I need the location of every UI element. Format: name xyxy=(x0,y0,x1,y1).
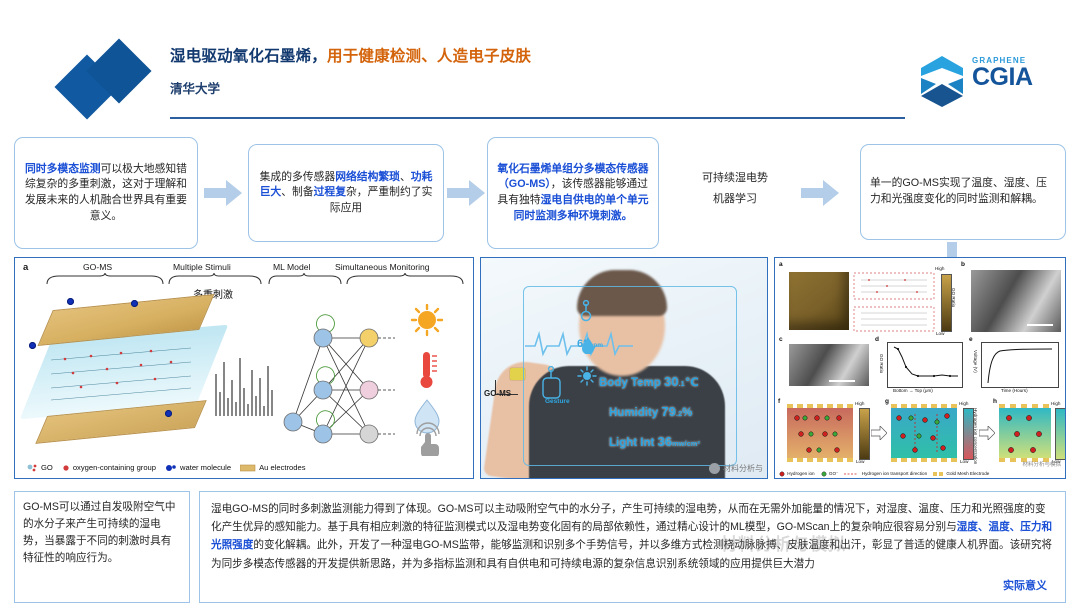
scale-bar-b xyxy=(1027,324,1053,326)
process-label-line1: 可持续湿电势 xyxy=(672,168,798,189)
process-label: 可持续湿电势 机器学习 xyxy=(672,168,798,210)
colorbar-f-high: High xyxy=(855,401,864,406)
legend-item-au: Au electrodes xyxy=(240,463,305,472)
title-block: 湿电驱动氧化石墨烯，用于健康检测、人造电子皮肤 清华大学 xyxy=(170,47,870,97)
go-ratio-low-label: Low xyxy=(936,331,944,336)
tsinghua-diamond-logo-icon xyxy=(62,52,166,114)
colorbar-h-high: High xyxy=(1051,401,1060,406)
figure-panel-schematic: a GO-MS Multiple Stimuli ML Model Simult… xyxy=(14,257,474,479)
figure-panel-characterization: a High Low GO Ratio b c d xyxy=(774,257,1066,479)
cgia-name-text: CGIA xyxy=(972,66,1033,90)
plot-d-go-ratio-depth xyxy=(887,342,963,388)
watermark-icon xyxy=(709,463,720,474)
panel-letter-a: a xyxy=(23,262,28,273)
legend-transport-direction: Hydrogen ion transport direction xyxy=(844,471,927,477)
significance-summary-text: 湿电GO-MS的同时多刺激监测能力得到了体现。GO-MS可以主动吸附空气中的水分… xyxy=(211,500,1054,573)
colorbar-g-high: High xyxy=(959,401,968,406)
page-title-plain: 湿电驱动氧化石墨烯， xyxy=(170,48,327,65)
legend-item-water: water molecule xyxy=(165,463,231,472)
arrow-right-icon-3 xyxy=(801,180,839,206)
process-label-line2: 机器学习 xyxy=(672,189,798,210)
panel-a-legend: GO oxygen-containing group water molecul… xyxy=(21,460,473,475)
mechanism-summary-box: GO-MS可以通过自发吸附空气中的水分子来产生可持续的湿电势，当暴露于不同的刺激… xyxy=(14,491,190,603)
water-molecule-icon-3 xyxy=(29,342,36,349)
sun-icon xyxy=(412,305,442,335)
go-lattice-icon xyxy=(51,340,201,410)
page-title: 湿电驱动氧化石墨烯，用于健康检测、人造电子皮肤 xyxy=(170,47,870,68)
hud-row-humidity: Humidity 79.2% xyxy=(609,404,692,419)
plot-e-xlabel: Time (Hours) xyxy=(1001,388,1028,393)
legend-go-minus: GO⁻ xyxy=(821,471,839,477)
legend-item-go: GO xyxy=(27,463,53,473)
flow-box-problem: 集成的多传感器网络结构繁琐、功耗巨大、制备过程复杂，严重制约了实际应用 xyxy=(248,144,444,242)
sub-letter-a: a xyxy=(779,261,783,268)
sub-letter-h: h xyxy=(993,398,997,405)
sun-icon-hud xyxy=(577,366,597,386)
flow-box-solution: 氧化石墨烯单组分多模态传感器（GO-MS），该传感器能够通过具有独特湿电自供电的… xyxy=(487,137,659,249)
go-ratio-high-label: High xyxy=(935,266,944,271)
cgia-star-hexagon-icon xyxy=(915,54,969,108)
panel-header-monitoring: Simultaneous Monitoring xyxy=(335,262,430,272)
cgia-logo: GRAPHENE CGIA xyxy=(915,52,1055,114)
water-molecule-icon-4 xyxy=(165,410,172,417)
affiliation: 清华大学 xyxy=(170,78,870,97)
colorbar-g-low: Low xyxy=(960,459,968,464)
lattice-bottom-icon xyxy=(853,306,935,332)
hud-row-light-int: Light Int 36mw/cm² xyxy=(609,434,700,449)
brace-icon-4 xyxy=(345,273,465,285)
legend-item-oxygen: oxygen-containing group xyxy=(62,463,156,472)
touch-gesture-icon-hud xyxy=(537,366,567,400)
sub-letter-f: f xyxy=(778,398,780,405)
panel-c-legend: Hydrogen ion GO⁻ Hydrogen ion transport … xyxy=(779,471,1063,477)
flow-box-result: 单一的GO-MS实现了温度、湿度、压力和光强度变化的同时监测和解耦。 xyxy=(860,144,1066,240)
plot-e-voltage-time xyxy=(981,342,1059,388)
plot-d-ylabel: GO Ratio xyxy=(879,354,884,373)
sub-letter-d: d xyxy=(875,336,879,343)
brace-icon-3 xyxy=(267,273,343,285)
legend-gold-mesh: Gold Mesh Electrode xyxy=(933,471,989,477)
brace-icon-1 xyxy=(45,273,165,285)
ion-diagram-g xyxy=(891,404,957,462)
arrow-right-icon xyxy=(204,180,242,206)
output-icons-group xyxy=(407,304,461,456)
legend-hydrogen-ion: Hydrogen ion xyxy=(779,471,815,477)
sub-letter-e: e xyxy=(969,336,973,343)
colorbar-g-label: Hydrogen ion concentration xyxy=(973,408,978,464)
thermometer-icon xyxy=(421,352,438,388)
water-molecule-icon-2 xyxy=(131,300,138,307)
brace-icon-2 xyxy=(167,273,263,285)
arrow-right-icon-2 xyxy=(447,180,485,206)
hud-row-body-temp: Body Temp 30.1℃ xyxy=(599,374,699,389)
watermark-panel-b: 材料分析与 xyxy=(709,463,763,474)
stimuli-signal-icon xyxy=(213,354,275,416)
figure-panel-wearable-demo: GO-MS 62bpm Gesture xyxy=(480,257,768,479)
watermark-panel-c: 材料分析与模拟 xyxy=(1022,460,1061,468)
figure-panels: a GO-MS Multiple Stimuli ML Model Simult… xyxy=(0,257,1080,482)
sub-letter-c: c xyxy=(779,336,783,343)
panel-header-stimuli: Multiple Stimuli xyxy=(173,262,231,272)
significance-signature: 实际意义 xyxy=(1003,577,1047,596)
flow-box-result-text: 单一的GO-MS实现了温度、湿度、压力和光强度变化的同时监测和解耦。 xyxy=(870,176,1056,207)
lattice-top-icon xyxy=(853,272,935,300)
ml-network-icon xyxy=(277,304,397,454)
sub-letter-b: b xyxy=(961,261,965,268)
slide-root: 湿电驱动氧化石墨烯，用于健康检测、人造电子皮肤 清华大学 GRAPHENE CG… xyxy=(0,0,1080,608)
arrow-right-icon-f xyxy=(871,426,887,440)
thermometer-icon-hud xyxy=(577,300,595,322)
panel-header-go-ms: GO-MS xyxy=(83,262,112,272)
page-title-highlight: 用于健康检测、人造电子皮肤 xyxy=(327,48,531,65)
water-drop-icon-hud xyxy=(581,336,595,354)
colorbar-f-low: Low xyxy=(856,459,864,464)
title-divider xyxy=(170,117,905,119)
header: 湿电驱动氧化石墨烯，用于健康检测、人造电子皮肤 清华大学 GRAPHENE CG… xyxy=(0,0,1080,128)
arrow-right-icon-g xyxy=(979,426,995,440)
panel-header-ml: ML Model xyxy=(273,262,310,272)
gesture-label: Gesture xyxy=(545,398,570,405)
cgia-wordmark: GRAPHENE CGIA xyxy=(972,56,1033,90)
significance-summary-box: 湿电GO-MS的同时多刺激监测能力得到了体现。GO-MS可以主动吸附空气中的水分… xyxy=(199,491,1066,603)
flow-box-motivation: 同时多模态监测可以极大地感知错综复杂的多重刺激，这对于理解和发展未来的人机融合世… xyxy=(14,137,198,249)
sub-letter-g: g xyxy=(885,398,889,405)
colorbar-f xyxy=(859,408,870,460)
sem-cross-section-image xyxy=(971,270,1061,332)
plot-d-xlabel: Bottom → Top (μm) xyxy=(893,388,933,393)
ion-diagram-f xyxy=(787,404,853,462)
water-molecule-icon xyxy=(67,298,74,305)
go-ms-label: GO-MS xyxy=(484,389,511,398)
plot-e-ylabel: Voltage (V) xyxy=(973,350,978,373)
mechanism-summary-text: GO-MS可以通过自发吸附空气中的水分子来产生可持续的湿电势，当暴露于不同的刺激… xyxy=(23,501,175,564)
scale-bar-c xyxy=(829,380,855,382)
go-film-cube-icon xyxy=(789,272,849,330)
go-ratio-colorbar-label: GO Ratio xyxy=(951,288,956,307)
colorbar-h xyxy=(1055,408,1066,460)
bottom-summary-row: GO-MS可以通过自发吸附空气中的水分子来产生可持续的湿电势，当暴露于不同的刺激… xyxy=(0,487,1080,608)
ion-diagram-h xyxy=(999,404,1051,462)
flow-row: 同时多模态监测可以极大地感知错综复杂的多重刺激，这对于理解和发展未来的人机融合世… xyxy=(0,134,1080,252)
